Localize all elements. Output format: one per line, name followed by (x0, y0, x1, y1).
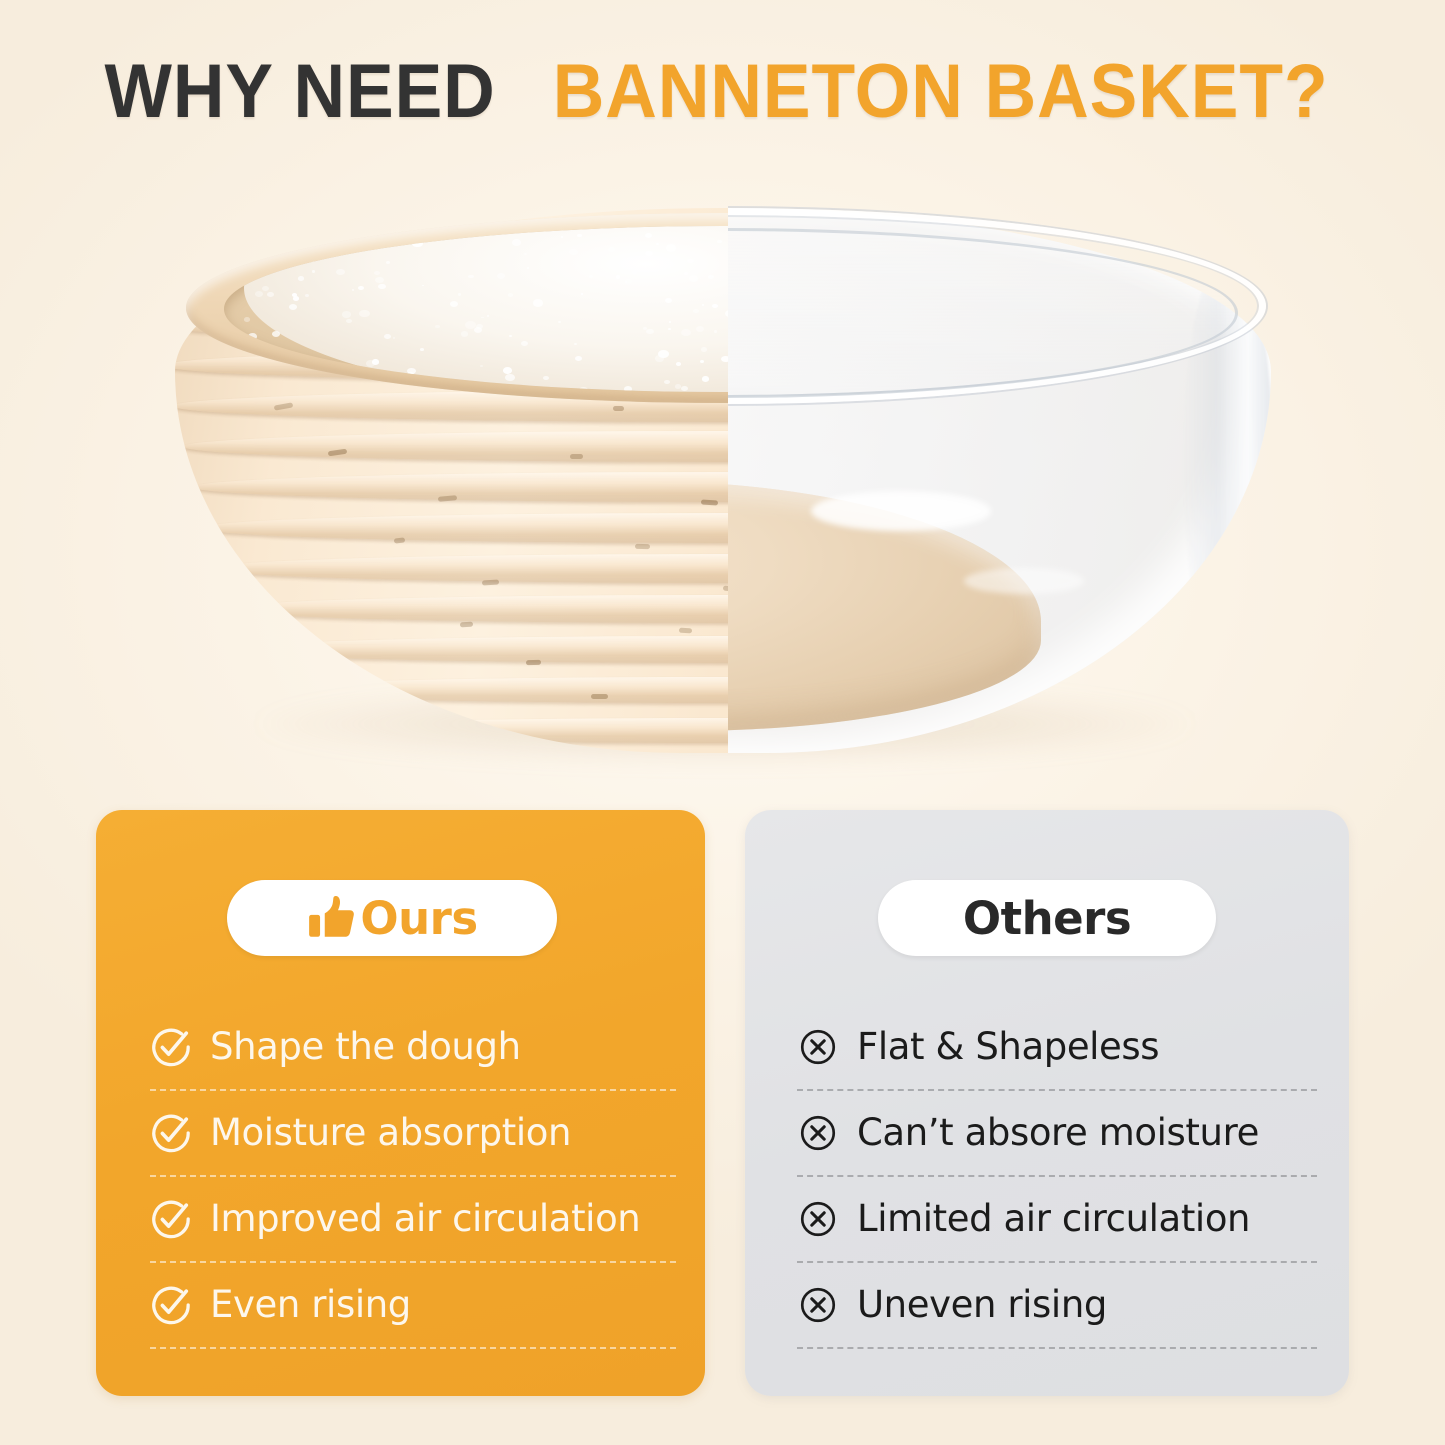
circle-x-icon (797, 1198, 839, 1240)
circle-x-icon (797, 1112, 839, 1154)
flour-speck (474, 327, 482, 333)
glass-bowl-half (728, 178, 1290, 778)
feature-label: Limited air circulation (857, 1200, 1250, 1239)
flour-speck (608, 247, 615, 252)
feature-row: Shape the dough (150, 1005, 676, 1089)
circle-x-icon (797, 1284, 839, 1326)
flour-speck (372, 233, 381, 239)
flour-speck (645, 251, 652, 256)
flour-speck (721, 356, 728, 363)
others-badge-label: Others (963, 896, 1131, 941)
flour-speck (336, 269, 345, 276)
basket-weave-stitch (635, 544, 650, 549)
basket-weave-stitch (679, 628, 692, 634)
flour-speck (262, 286, 270, 291)
basket-weave-stitch (613, 406, 624, 411)
flour-speck (267, 292, 274, 297)
flour-speck (461, 331, 468, 336)
circle-check-icon (150, 1198, 192, 1240)
glass-specular-1 (811, 491, 991, 531)
flour-speck (561, 236, 564, 238)
flour-speck (702, 376, 709, 381)
flour-speck (569, 249, 577, 255)
flour-speck (480, 365, 483, 367)
thumbs-up-icon (306, 893, 356, 943)
flour-speck (293, 296, 299, 300)
flour-speck (625, 279, 632, 284)
flour-speck (668, 328, 670, 330)
flour-speck (363, 372, 373, 379)
basket-weave-stitch (701, 499, 718, 505)
feature-row: Can’t absore moisture (797, 1091, 1317, 1175)
basket-coil-ring (202, 513, 728, 543)
flour-speck (272, 331, 280, 337)
flour-speck (693, 309, 698, 313)
flour-speck (681, 386, 688, 391)
flour-speck (244, 317, 250, 321)
basket-coil-ring (231, 636, 728, 663)
feature-label: Uneven rising (857, 1286, 1107, 1325)
flour-speck (645, 233, 652, 238)
flour-speck (407, 368, 416, 374)
basket-coil-ring (241, 677, 728, 703)
flour-speck (359, 310, 370, 318)
flour-speck (311, 260, 314, 262)
flour-speck (574, 343, 577, 345)
flour-speck (676, 362, 681, 366)
flour-speck (524, 253, 527, 255)
flour-speck (689, 275, 698, 282)
flour-speck (687, 259, 693, 264)
feature-separator (150, 1347, 676, 1349)
flour-speck (468, 275, 473, 279)
flour-speck (472, 388, 478, 392)
flour-speck (298, 276, 304, 281)
flour-speck (646, 329, 654, 335)
flour-speck (322, 256, 325, 258)
flour-speck (289, 304, 297, 310)
flour-speck (312, 270, 315, 272)
flour-speck (374, 271, 380, 275)
feature-label: Even rising (210, 1286, 411, 1325)
flour-speck (527, 267, 529, 268)
flour-speck (352, 289, 355, 291)
basket-weave-stitch (460, 622, 473, 628)
others-badge: Others (878, 880, 1216, 956)
flour-speck (358, 286, 364, 290)
basket-weave-stitch (394, 537, 405, 543)
flour-speck (342, 311, 351, 317)
flour-speck (577, 234, 581, 237)
panel-ours: Ours Shape the doughMoisture absorptionI… (96, 810, 705, 1396)
flour-speck (521, 341, 528, 346)
basket-weave-stitch (591, 694, 608, 699)
flour-speck (669, 321, 672, 323)
flour-speck (384, 334, 391, 339)
flour-speck (681, 329, 691, 336)
flour-speck (632, 270, 638, 274)
ours-feature-list: Shape the doughMoisture absorptionImprov… (150, 1005, 676, 1349)
circle-x-icon (797, 1026, 839, 1068)
feature-label: Flat & Shapeless (857, 1028, 1159, 1067)
flour-speck (624, 386, 633, 392)
circle-check-icon (150, 1284, 192, 1326)
banneton-basket (175, 208, 728, 753)
flour-speck (616, 275, 621, 278)
circle-check-icon (150, 1112, 192, 1154)
flour-speck (684, 272, 688, 275)
flour-speck (372, 359, 379, 364)
flour-speck (505, 374, 514, 381)
flour-speck (512, 239, 521, 245)
flour-speck (412, 240, 422, 248)
basket-coil-ring (222, 595, 728, 623)
flour-speck (656, 243, 659, 245)
circle-check-icon (150, 1026, 192, 1068)
flour-speck (675, 384, 681, 388)
basket-weave-stitch (438, 495, 457, 502)
flour-speck (655, 355, 664, 361)
feature-label: Can’t absore moisture (857, 1114, 1259, 1153)
ours-badge: Ours (227, 880, 557, 956)
feature-label: Moisture absorption (210, 1114, 571, 1153)
flour-speck (581, 293, 584, 295)
flour-speck (497, 273, 506, 279)
flour-speck (509, 335, 512, 337)
flour-speck (450, 301, 458, 307)
feature-label: Improved air circulation (210, 1200, 640, 1239)
basket-coil-ring (212, 554, 728, 583)
basket-coil-ring (251, 718, 728, 743)
feature-row: Flat & Shapeless (797, 1005, 1317, 1089)
flour-speck (285, 371, 296, 379)
flour-speck (386, 261, 390, 264)
feature-row: Even rising (150, 1263, 676, 1347)
flour-speck (700, 360, 704, 363)
title-part-dark: WHY NEED (104, 54, 495, 130)
feature-separator (797, 1347, 1317, 1349)
page-title: WHY NEEDBANNETON BASKET? (0, 54, 1445, 130)
floured-dough-mound (244, 226, 729, 392)
flour-speck (358, 381, 367, 388)
flour-speck (702, 304, 704, 305)
feature-label: Shape the dough (210, 1028, 521, 1067)
flour-speck (508, 293, 513, 297)
flour-speck (579, 387, 588, 392)
flour-speck (503, 367, 513, 374)
flour-speck (717, 240, 722, 243)
feature-row: Moisture absorption (150, 1091, 676, 1175)
flour-speck (267, 258, 275, 264)
hero-product-image (155, 178, 1290, 778)
feature-row: Improved air circulation (150, 1177, 676, 1261)
glass-bowl (728, 208, 1271, 753)
flour-speck (487, 315, 490, 317)
basket-weave-stitch (526, 660, 541, 666)
title-part-accent: BANNETON BASKET? (553, 54, 1329, 130)
flour-speck (665, 298, 672, 303)
flour-speck (393, 337, 396, 339)
flour-speck (248, 333, 257, 339)
glass-specular-2 (964, 568, 1084, 594)
comparison-panels: Ours Shape the doughMoisture absorptionI… (96, 810, 1349, 1396)
feature-row: Uneven rising (797, 1263, 1317, 1347)
ours-badge-label: Ours (360, 896, 477, 941)
feature-row: Limited air circulation (797, 1177, 1317, 1261)
flour-speck (589, 275, 593, 278)
flour-speck (435, 325, 440, 328)
basket-weave-stitch (482, 579, 499, 585)
flour-speck (458, 293, 462, 296)
flour-speck (404, 231, 414, 238)
flour-speck (255, 291, 263, 297)
flour-speck (375, 277, 383, 283)
flour-speck (378, 284, 386, 290)
flour-speck (533, 299, 543, 306)
flour-speck (714, 330, 717, 332)
flour-speck (543, 376, 549, 380)
flour-speck (422, 285, 424, 287)
flour-speck (420, 348, 424, 351)
flour-speck (331, 363, 340, 369)
basket-coil-ring (193, 472, 728, 502)
flour-speck (712, 304, 718, 308)
flour-speck (305, 294, 309, 297)
flour-speck (696, 326, 704, 332)
flour-speck (256, 274, 259, 276)
banneton-basket-half (155, 178, 728, 778)
infographic-page: WHY NEEDBANNETON BASKET? (0, 0, 1445, 1445)
flour-speck (575, 356, 582, 361)
flour-speck (558, 321, 561, 323)
flour-speck (701, 347, 708, 352)
flour-speck (664, 380, 670, 384)
flour-speck (346, 319, 352, 323)
flour-speck (666, 244, 677, 252)
flour-speck (708, 275, 714, 279)
others-feature-list: Flat & ShapelessCan’t absore moistureLim… (797, 1005, 1317, 1349)
flour-speck (481, 317, 484, 319)
basket-weave-stitch (570, 454, 583, 459)
basket-coil-ring (183, 431, 728, 462)
panel-others: Others Flat & ShapelessCan’t absore mois… (745, 810, 1349, 1396)
